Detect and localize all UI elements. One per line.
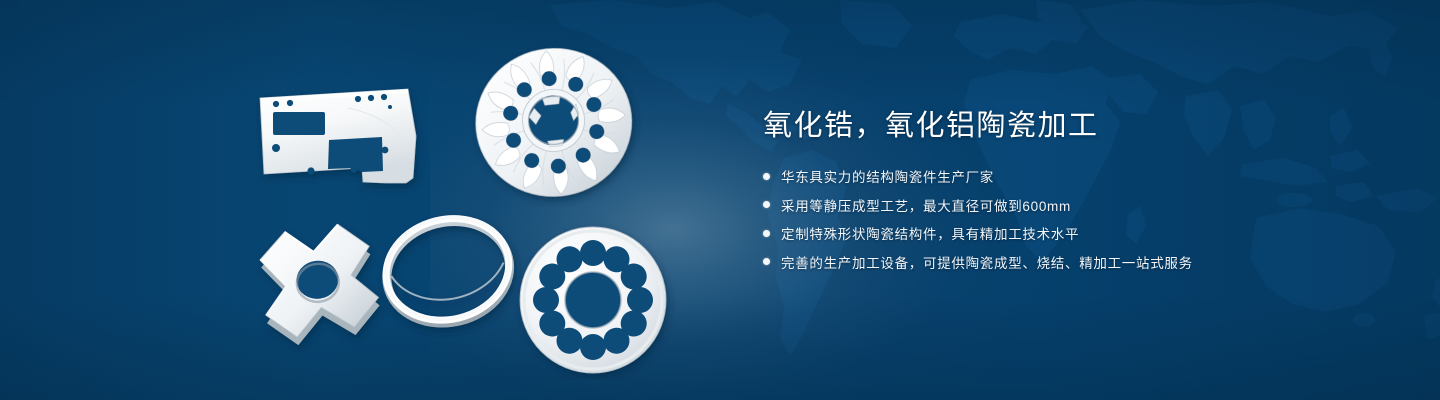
ceramic-cross-part (255, 220, 384, 349)
feature-item-label: 采用等静压成型工艺，最大直径可做到600mm (781, 195, 1071, 215)
bullet-dot-icon (763, 173, 770, 180)
ceramic-impeller-part (468, 41, 639, 204)
bullet-dot-icon (763, 201, 770, 208)
banner-copy: 氧化锆，氧化铝陶瓷加工 华东具实力的结构陶瓷件生产厂家 采用等静压成型工艺，最大… (763, 108, 1383, 280)
feature-item-3: 定制特殊形状陶瓷结构件，具有精加工技术水平 (763, 223, 1383, 243)
feature-list: 华东具实力的结构陶瓷件生产厂家 采用等静压成型工艺，最大直径可做到600mm 定… (763, 166, 1383, 272)
feature-item-label: 定制特殊形状陶瓷结构件，具有精加工技术水平 (781, 223, 1079, 243)
ceramic-plate-part (260, 89, 416, 183)
feature-item-4: 完善的生产加工设备，可提供陶瓷成型、烧结、精加工一站式服务 (763, 252, 1383, 272)
bullet-dot-icon (763, 258, 770, 265)
ceramic-ring-part (375, 205, 520, 336)
feature-item-1: 华东具实力的结构陶瓷件生产厂家 (763, 166, 1383, 186)
ceramic-perforated-disc-part (520, 227, 666, 373)
banner-headline: 氧化锆，氧化铝陶瓷加工 (763, 108, 1383, 144)
promo-banner: 氧化锆，氧化铝陶瓷加工 华东具实力的结构陶瓷件生产厂家 采用等静压成型工艺，最大… (0, 0, 1440, 400)
bullet-dot-icon (763, 230, 770, 237)
feature-item-2: 采用等静压成型工艺，最大直径可做到600mm (763, 195, 1383, 215)
product-photo-group (230, 35, 700, 380)
feature-item-label: 完善的生产加工设备，可提供陶瓷成型、烧结、精加工一站式服务 (781, 252, 1193, 272)
feature-item-label: 华东具实力的结构陶瓷件生产厂家 (781, 166, 994, 186)
